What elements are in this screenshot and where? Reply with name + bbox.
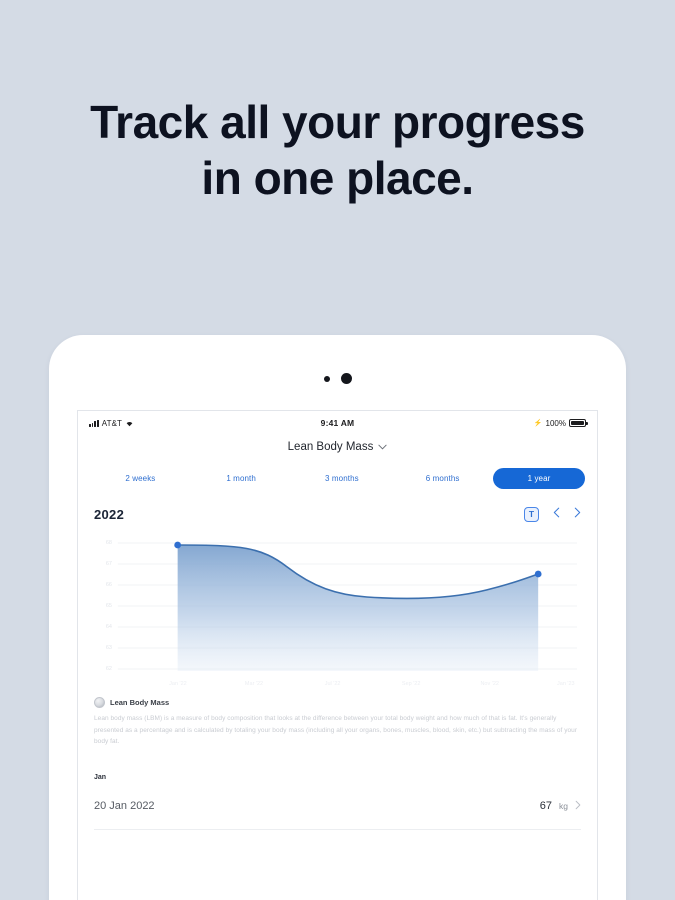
y-tick-label: 62 — [106, 666, 112, 672]
chevron-right-icon[interactable] — [575, 797, 581, 815]
entries-list: Jan 20 Jan 2022 67 kg — [78, 774, 597, 830]
y-tick-label: 67 — [106, 561, 112, 567]
chart-y-axis: 68 67 66 65 64 63 62 — [92, 533, 114, 671]
chevron-down-icon[interactable] — [378, 441, 387, 453]
camera-icon — [324, 376, 330, 382]
entry-value: 67 — [540, 800, 552, 812]
headline-line-2: in one place. — [0, 150, 675, 206]
entry-value-group: 67 kg — [540, 797, 581, 815]
x-tick-label: Mar '22 — [245, 681, 263, 687]
y-tick-label: 64 — [106, 624, 112, 630]
battery-percent-label: 100% — [546, 419, 566, 428]
battery-icon — [569, 419, 586, 427]
wifi-icon — [125, 420, 134, 427]
tablet-device: AT&T 9:41 AM ⚡ 100% Lean Body Mass — [49, 335, 626, 900]
device-bezel-sensors — [49, 373, 626, 384]
carrier-label: AT&T — [102, 419, 122, 428]
page-title: Lean Body Mass — [288, 441, 374, 453]
chart-canvas — [92, 533, 583, 693]
table-row[interactable]: 20 Jan 2022 67 kg — [94, 797, 581, 830]
screen-title-button[interactable]: Lean Body Mass — [78, 435, 597, 465]
y-tick-label: 65 — [106, 603, 112, 609]
x-tick-label: Nov '22 — [480, 681, 498, 687]
tab-1-month[interactable]: 1 month — [191, 474, 292, 483]
chart-header: 2022 T — [78, 491, 597, 529]
chart-point-start — [174, 542, 181, 549]
status-bar-left: AT&T — [89, 419, 321, 428]
chevron-right-icon[interactable] — [574, 505, 581, 523]
chevron-left-icon[interactable] — [553, 505, 560, 523]
status-bar: AT&T 9:41 AM ⚡ 100% — [78, 411, 597, 435]
lean-body-mass-chart[interactable]: 68 67 66 65 64 63 62 Jan '22 Mar '22 Jul… — [92, 533, 583, 693]
entry-unit: kg — [559, 801, 568, 811]
description-header: Lean Body Mass — [94, 697, 581, 708]
x-tick-label: Jan '22 — [169, 681, 187, 687]
range-tabs: 2 weeks 1 month 3 months 6 months 1 year — [78, 465, 597, 491]
y-tick-label: 66 — [106, 582, 112, 588]
description-section: Lean Body Mass Lean body mass (LBM) is a… — [78, 693, 597, 748]
today-icon[interactable]: T — [524, 507, 539, 522]
list-section-header: Jan — [94, 774, 581, 781]
entry-date: 20 Jan 2022 — [94, 800, 155, 812]
description-title: Lean Body Mass — [110, 698, 169, 707]
status-bar-right: ⚡ 100% — [354, 419, 586, 428]
y-tick-label: 68 — [106, 540, 112, 546]
year-label: 2022 — [94, 507, 124, 522]
x-tick-label: Sep '22 — [402, 681, 420, 687]
page-headline: Track all your progress in one place. — [0, 94, 675, 206]
tab-6-months[interactable]: 6 months — [392, 474, 493, 483]
signal-bars-icon — [89, 420, 99, 427]
app-screen: AT&T 9:41 AM ⚡ 100% Lean Body Mass — [77, 410, 598, 900]
x-tick-label: Jul '22 — [325, 681, 341, 687]
headline-line-1: Track all your progress — [90, 96, 585, 148]
chart-x-axis: Jan '22 Mar '22 Jul '22 Sep '22 Nov '22 … — [92, 679, 583, 693]
x-tick-label: Jan '23 — [557, 681, 575, 687]
chart-point-end — [535, 571, 542, 578]
tab-3-months[interactable]: 3 months — [292, 474, 393, 483]
charging-bolt-icon: ⚡ — [534, 419, 543, 427]
screenshot-root: Track all your progress in one place. AT… — [0, 0, 675, 900]
sensor-icon — [341, 373, 352, 384]
chart-controls: T — [524, 505, 581, 523]
description-body: Lean body mass (LBM) is a measure of bod… — [94, 713, 581, 748]
body-mass-icon — [94, 697, 105, 708]
tab-1-year[interactable]: 1 year — [493, 468, 585, 489]
tab-2-weeks[interactable]: 2 weeks — [90, 474, 191, 483]
clock-label: 9:41 AM — [321, 418, 355, 428]
y-tick-label: 63 — [106, 645, 112, 651]
